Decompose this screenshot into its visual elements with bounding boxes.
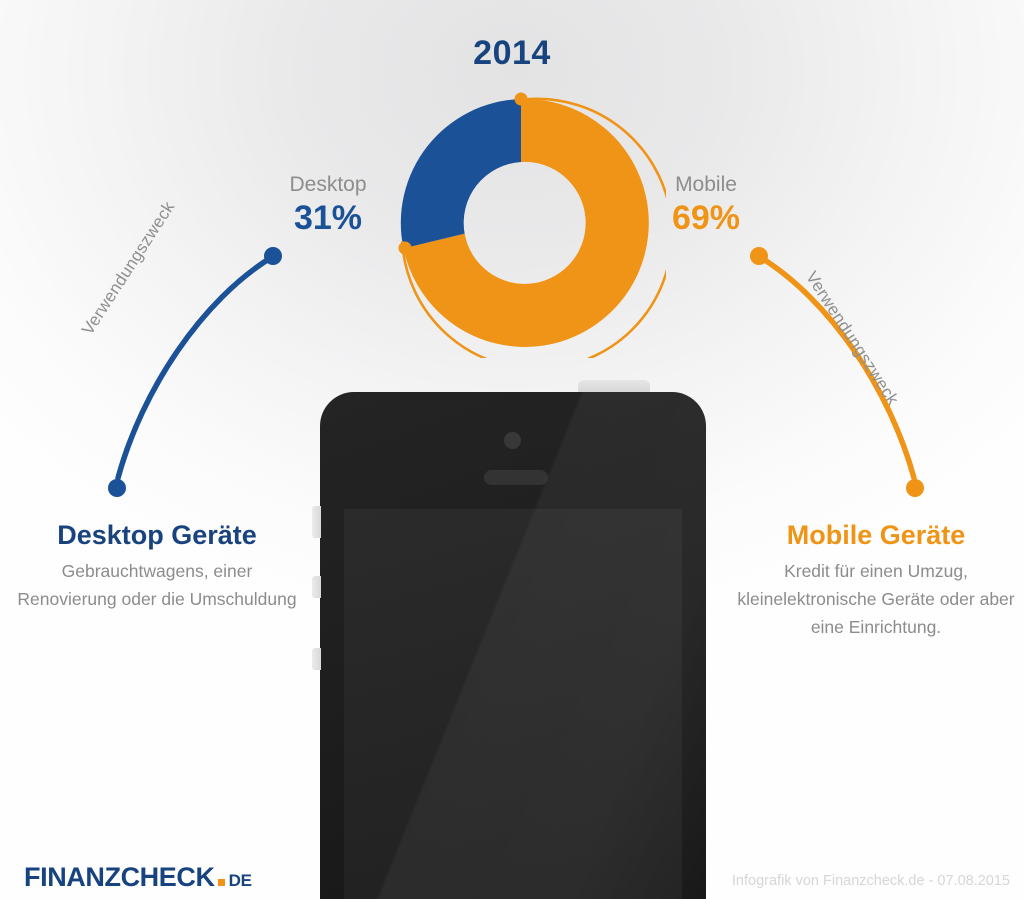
logo-dot-icon: [218, 879, 225, 886]
phone-volume-up-button: [312, 506, 321, 538]
connector-right-dot-bottom: [906, 479, 924, 497]
info-block-mobile-body: Kredit für einen Umzug, kleinelektronisc…: [726, 557, 1024, 641]
callout-mobile: Mobile 69%: [636, 172, 776, 238]
logo-wordmark: FINANZCHECK: [24, 862, 215, 893]
infographic-canvas: 2014 Desktop 31% Mobile 69% Verwendungsz…: [0, 0, 1024, 899]
connector-left-dot-bottom: [108, 479, 126, 497]
callout-desktop-label: Desktop: [258, 172, 398, 198]
phone-body: [320, 392, 706, 899]
callout-desktop: Desktop 31%: [258, 172, 398, 238]
info-block-mobile: Mobile Geräte Kredit für einen Umzug, kl…: [726, 518, 1024, 641]
phone-mute-switch: [312, 648, 321, 670]
donut-dot-left: [399, 242, 412, 255]
connector-left-dot-top: [264, 247, 282, 265]
info-block-desktop-body: Gebrauchtwagens, einer Renovierung oder …: [12, 557, 302, 613]
info-block-mobile-title: Mobile Geräte: [726, 518, 1024, 552]
callout-desktop-value: 31%: [258, 198, 398, 238]
connector-right-dot-top: [750, 247, 768, 265]
phone-earpiece-icon: [484, 470, 548, 485]
donut-slice-desktop: [401, 99, 521, 248]
donut-chart-svg: [376, 78, 666, 358]
connector-curve-left: [72, 240, 302, 515]
logo-tld: DE: [229, 871, 252, 891]
callout-mobile-value: 69%: [636, 198, 776, 238]
info-block-desktop: Desktop Geräte Gebrauchtwagens, einer Re…: [12, 518, 302, 613]
info-block-desktop-title: Desktop Geräte: [12, 518, 302, 552]
phone-volume-down-button: [312, 576, 321, 598]
connector-curve-right: [738, 240, 968, 515]
donut-dot-top: [515, 93, 528, 106]
credit-line: Infografik von Finanzcheck.de - 07.08.20…: [732, 873, 1010, 889]
finanzcheck-logo[interactable]: FINANZCHECK DE: [24, 862, 252, 893]
connector-left-path: [118, 257, 272, 478]
page-title: 2014: [0, 34, 1024, 73]
callout-mobile-label: Mobile: [636, 172, 776, 198]
phone-screen: [344, 509, 682, 899]
connector-right-path: [760, 257, 914, 478]
smartphone-illustration: [320, 392, 706, 899]
donut-chart: [376, 78, 666, 358]
phone-front-camera-icon: [504, 432, 521, 449]
